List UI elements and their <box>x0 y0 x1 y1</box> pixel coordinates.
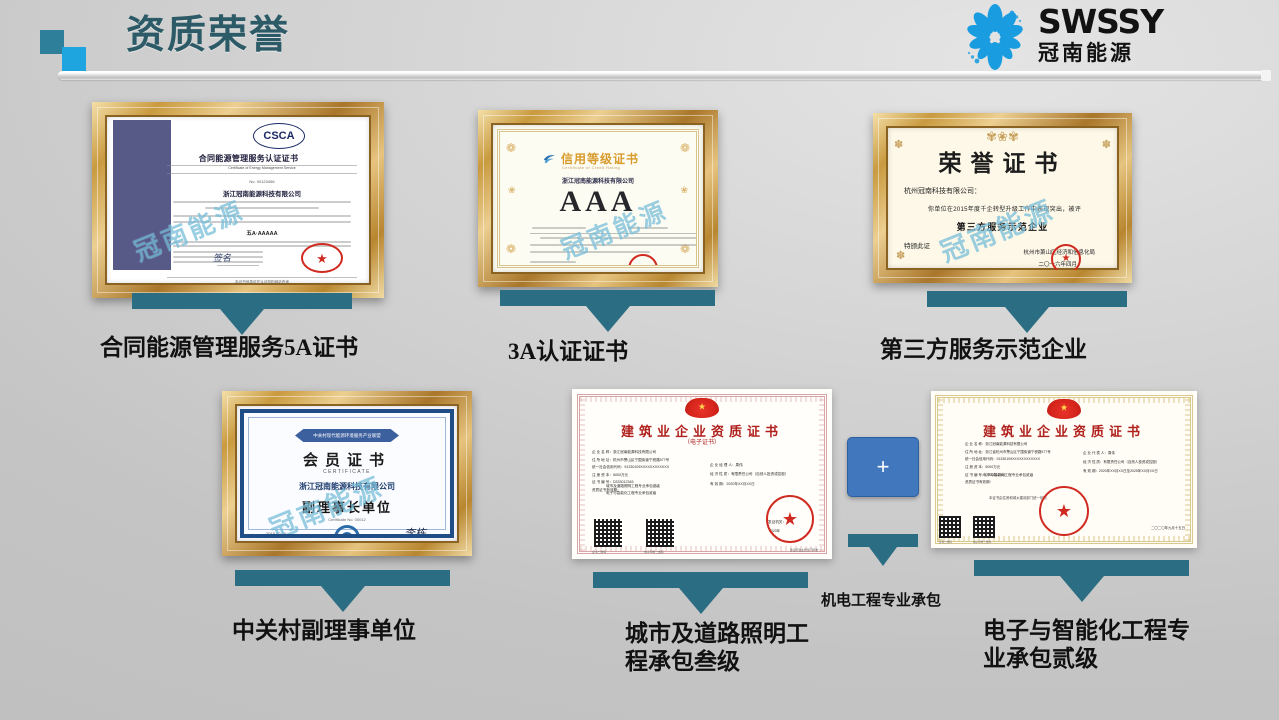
cert-number: No. 00123456 <box>167 179 357 184</box>
certificate-frame-5a[interactable]: CSCA 合同能源管理服务认证证书 Certificate of Energy … <box>92 102 384 298</box>
watermark: 冠南能源 <box>934 188 1060 269</box>
company-logo: SWSSY 冠南能源 <box>960 4 1268 76</box>
qr-code <box>973 516 995 538</box>
cert-rule <box>167 173 357 174</box>
cert-red-seal: ★ <box>628 254 658 268</box>
cert-rule <box>167 277 357 278</box>
cert-footer-note: 建设行政主管部门印章 <box>790 548 818 552</box>
qr-label: 电子印章二维码 <box>973 540 991 544</box>
cert-field: 企 业 名 称：浙江冠南能源科技有限公司 <box>592 449 697 457</box>
national-emblem-icon <box>1047 399 1081 419</box>
qr-code <box>594 519 622 547</box>
water-droplet-petals-icon <box>960 4 1030 70</box>
qr-code <box>646 519 674 547</box>
callout-arrow-5a <box>132 293 352 335</box>
cert-field: 注 册 资 本：5000万元 <box>592 472 697 480</box>
cert-red-seal: ★ <box>301 243 343 273</box>
cert-signature: 签名 <box>213 251 231 264</box>
certificate-frame-3a[interactable]: ❁ ❁ ❁ ❁ ❀ ❀ 信用等级证书 Certificate of Credit… <box>478 110 718 287</box>
cert-field: 企 业 名 称：浙江冠南能源科技有限公司 <box>965 441 1077 449</box>
decorative-square-bright <box>62 47 86 71</box>
logo-chinese-name: 冠南能源 <box>1038 43 1163 64</box>
page-header: 资质荣誉 <box>0 0 1279 90</box>
cert-company: 杭州冠南科技有限公司： <box>904 186 981 196</box>
logo-text: SWSSY 冠南能源 <box>1038 5 1163 64</box>
national-emblem-icon <box>685 398 719 418</box>
cert-rule <box>217 265 259 266</box>
caption-member: 中关村副理事单位 <box>232 617 512 645</box>
cert-note: 特颁此证 <box>904 240 930 250</box>
cert-field: 统一社会信用代码：91330109XXXXXXXXXXXX <box>592 464 697 472</box>
certificate-construction-lighting[interactable]: 建筑业企业资质证书 （电子证书） 企 业 名 称：浙江冠南能源科技有限公司 住 … <box>572 389 832 559</box>
cert-field: 住 所 地 址：杭州市萧山区宁围街道宁税路577号 <box>592 457 697 465</box>
cert-field: 经 济 性 质：有限责任公司（自然人投资或控股） <box>710 470 818 479</box>
cert-subtitle: （电子证书） <box>572 437 832 446</box>
plus-icon: + <box>877 456 890 478</box>
qr-label: 证书二维码 <box>939 540 952 544</box>
cert-scope: 城市及道路照明工程专业承包叁级 电子与智能化工程专业承包贰级 <box>606 483 756 497</box>
cert-subtitle: CERTIFICATE <box>244 469 450 475</box>
certificate-frame-member[interactable]: 中关村现代能源环境服务产业联盟 会员证书 CERTIFICATE 浙江冠南能源科… <box>222 391 472 556</box>
logo-latin-name: SWSSY <box>1038 5 1163 38</box>
cert-field: 经 济 性 质：有限责任公司（自然人投资或控股） <box>1083 458 1187 467</box>
cert-body-line <box>530 267 576 268</box>
qr-label: 证书二维码 <box>592 550 606 554</box>
cert-ribbon: 中关村现代能源环境服务产业联盟 <box>295 429 399 442</box>
csca-logo: CSCA <box>253 123 305 149</box>
cert-scope: 电子与智能化工程专业承包贰级 <box>983 473 1033 478</box>
callout-arrow-construction-lighting <box>593 572 808 614</box>
certificate-construction-electronic[interactable]: 建筑业企业资质证书 企 业 名 称：浙江冠南能源科技有限公司 住 所 地 址：浙… <box>931 391 1197 548</box>
cert-extra-note: 本证书由住房和城乡建设部门统一印制 <box>989 495 1047 500</box>
cert-company: 浙江冠南能源科技有限公司 <box>500 176 696 185</box>
caption-construction-lighting: 城市及道路照明工 程承包叁级 <box>625 620 845 676</box>
cert-body-line <box>173 201 351 203</box>
cert-red-seal: ★ <box>1039 486 1089 536</box>
cert-date: 二〇二〇年九月十五日 <box>1151 525 1185 530</box>
caption-5a: 合同能源管理服务5A证书 <box>100 334 400 362</box>
cert-fields-right: 企 业 代 表 人：周伟 经 济 性 质：有限责任公司（自然人投资或控股） 有 … <box>1083 449 1187 476</box>
credit-swoosh-icon <box>542 151 557 166</box>
callout-arrow-3a <box>500 290 715 332</box>
caption-3a: 3A认证证书 <box>508 338 768 366</box>
cert-red-seal: ★ <box>766 495 814 543</box>
cert-field: 企 业 代 表 人：周伟 <box>1083 449 1187 458</box>
cert-title: 合同能源管理服务认证证书 <box>141 153 356 164</box>
callout-arrow-member <box>235 570 450 612</box>
cert-title: 荣誉证书 <box>886 144 1119 178</box>
cert-red-seal: ★ <box>1051 244 1081 270</box>
decorative-square-dark <box>40 30 64 54</box>
cert-fields-left: 企 业 名 称：浙江冠南能源科技有限公司 住 所 地 址：浙江省杭州市萧山区宁围… <box>965 441 1077 487</box>
cert-footer-note: 本证书信息可在认证机构网站查询 <box>167 280 357 285</box>
caption-honor: 第三方服务示范企业 <box>880 336 1160 364</box>
cert-signature: 李栋 <box>404 525 426 538</box>
page-title: 资质荣誉 <box>126 16 290 57</box>
callout-arrow-construction-electronic <box>974 560 1189 602</box>
qr-code <box>939 516 961 538</box>
callout-arrow-honor <box>927 291 1127 333</box>
cert-standard-line: Certificate of Energy Management Service <box>167 166 357 170</box>
caption-construction-electronic: 电子与智能化工程专 业承包贰级 <box>983 617 1213 673</box>
add-button[interactable]: + <box>847 437 919 497</box>
cert-field: 统一社会信用代码：91330109XXXXXXXXXXXX <box>965 456 1077 464</box>
cert-field: 注 册 资 本：5000万元 <box>965 464 1077 472</box>
cert-company: 浙江冠南能源科技有限公司 <box>167 188 357 198</box>
cert-field: 住 所 地 址：浙江省杭州市萧山区宁围街道宁税路577号 <box>965 449 1077 457</box>
cert-field: 有 效 期：2020年XX月XX日至2025年XX月XX日 <box>1083 467 1187 476</box>
cert-title: 会员证书 <box>244 449 450 470</box>
cert-field: 企 业 经 理 人：周伟 <box>710 461 818 470</box>
qr-label: 电子印章二维码 <box>644 550 664 554</box>
callout-arrow-mechanical <box>848 534 918 566</box>
cert-title: 建筑业企业资质证书 <box>931 421 1197 440</box>
cert-subtitle: Certificate of Credit Rating <box>562 165 620 170</box>
certificate-frame-honor[interactable]: ✾❀✾ ✽ ✽ ✽ 荣誉证书 杭州冠南科技有限公司： 你单位在2015年度千企转… <box>873 113 1132 283</box>
